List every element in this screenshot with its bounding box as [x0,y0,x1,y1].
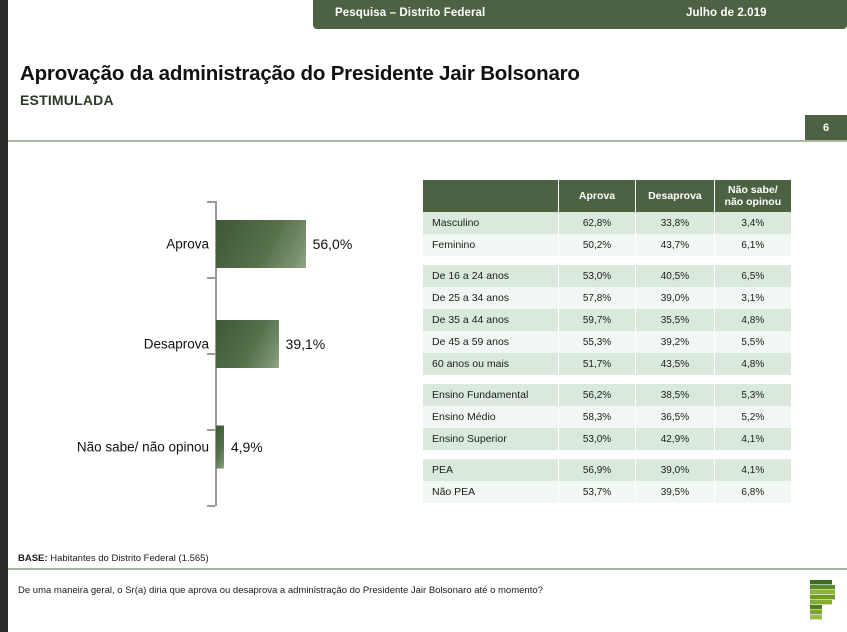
table-header-nao-sabe: Não sabe/ não opinou [714,180,791,212]
table-cell-aprova: 50,2% [558,234,635,256]
table-row: Masculino62,8%33,8%3,4% [423,212,791,234]
table-cell-nao-sabe: 3,1% [714,287,791,309]
p-logo [806,578,840,624]
table-cell-label: De 45 a 59 anos [423,331,558,353]
chart-bar-label: Desaprova [144,337,209,352]
axis-tick [207,201,215,203]
table-header: Aprova Desaprova Não sabe/ não opinou [423,180,791,212]
table-cell-label: Ensino Superior [423,428,558,450]
table-row: Ensino Médio58,3%36,5%5,2% [423,406,791,428]
table-cell-label: De 35 a 44 anos [423,309,558,331]
base-note: BASE: Habitantes do Distrito Federal (1.… [18,553,209,564]
chart-bar-row: Não sabe/ não opinou 4,9% [95,425,405,468]
table-cell-nao-sabe: 5,3% [714,384,791,406]
chart-bar-value: 56,0% [313,236,353,252]
table-cell-aprova: 55,3% [558,331,635,353]
table-cell-desaprova: 40,5% [636,265,714,287]
table-header-aprova: Aprova [558,180,635,212]
table-cell-nao-sabe: 4,8% [714,309,791,331]
table-cell-desaprova: 36,5% [636,406,714,428]
table-header-corner [423,180,558,212]
table-cell-nao-sabe: 4,1% [714,459,791,481]
table-cell-desaprova: 38,5% [636,384,714,406]
table-row: Feminino50,2%43,7%6,1% [423,234,791,256]
table-group-spacer [423,450,791,459]
table-row: 60 anos ou mais51,7%43,5%4,8% [423,353,791,375]
table-group-spacer-cell [423,256,791,265]
table-cell-aprova: 53,0% [558,265,635,287]
table-row: Ensino Superior53,0%42,9%4,1% [423,428,791,450]
left-edge-rail [0,0,8,632]
table-group-spacer-cell [423,450,791,459]
base-label: BASE: [18,553,48,564]
table-cell-label: Ensino Médio [423,406,558,428]
table-body: Masculino62,8%33,8%3,4%Feminino50,2%43,7… [423,212,791,503]
table-cell-nao-sabe: 6,8% [714,481,791,503]
table-cell-label: De 25 a 34 anos [423,287,558,309]
crosstab-table: Aprova Desaprova Não sabe/ não opinou Ma… [423,180,791,503]
table-cell-desaprova: 39,0% [636,287,714,309]
top-banner: Pesquisa – Distrito Federal Julho de 2.0… [313,0,847,29]
header-line-1: Não sabe/ [728,184,778,196]
table-cell-aprova: 58,3% [558,406,635,428]
table-cell-nao-sabe: 5,5% [714,331,791,353]
table-cell-label: Masculino [423,212,558,234]
table-cell-desaprova: 39,5% [636,481,714,503]
table-cell-nao-sabe: 4,1% [714,428,791,450]
table-row: De 25 a 34 anos57,8%39,0%3,1% [423,287,791,309]
table-cell-desaprova: 33,8% [636,212,714,234]
table-row: De 35 a 44 anos59,7%35,5%4,8% [423,309,791,331]
page-title: Aprovação da administração do Presidente… [20,62,580,86]
table-row: PEA56,9%39,0%4,1% [423,459,791,481]
table-cell-nao-sabe: 6,5% [714,265,791,287]
table-cell-aprova: 59,7% [558,309,635,331]
table-cell-desaprova: 43,7% [636,234,714,256]
table-group-spacer [423,256,791,265]
table-cell-desaprova: 42,9% [636,428,714,450]
banner-date-label: Julho de 2.019 [686,7,767,19]
table-cell-nao-sabe: 6,1% [714,234,791,256]
table-cell-aprova: 57,8% [558,287,635,309]
table-group-spacer [423,375,791,384]
chart-bar [216,220,306,268]
table-row: Não PEA53,7%39,5%6,8% [423,481,791,503]
table-cell-nao-sabe: 3,4% [714,212,791,234]
chart-bar [216,425,224,468]
axis-tick [207,505,215,507]
table-cell-aprova: 62,8% [558,212,635,234]
banner-survey-label: Pesquisa – Distrito Federal [335,7,485,19]
table-cell-label: Não PEA [423,481,558,503]
table-cell-nao-sabe: 4,8% [714,353,791,375]
chart-bar-label: Não sabe/ não opinou [77,439,209,454]
chart-bar-label: Aprova [166,237,209,252]
chart-bar [216,320,279,368]
axis-tick [207,277,215,279]
table-cell-label: 60 anos ou mais [423,353,558,375]
chart-bar-row: Aprova 56,0% [95,220,405,268]
page-number-badge: 6 [805,115,847,140]
title-divider [8,140,847,142]
table-cell-aprova: 53,7% [558,481,635,503]
table-cell-aprova: 51,7% [558,353,635,375]
table-cell-aprova: 53,0% [558,428,635,450]
table-row: De 16 a 24 anos53,0%40,5%6,5% [423,265,791,287]
table-group-spacer-cell [423,375,791,384]
header-line-2: não opinou [725,196,782,208]
table-header-row: Aprova Desaprova Não sabe/ não opinou [423,180,791,212]
table-cell-label: Feminino [423,234,558,256]
table-row: Ensino Fundamental56,2%38,5%5,3% [423,384,791,406]
table-cell-nao-sabe: 5,2% [714,406,791,428]
page-subtitle: ESTIMULADA [20,92,114,108]
p-logo-bars [810,580,835,619]
table-cell-aprova: 56,2% [558,384,635,406]
chart-bar-value: 39,1% [286,336,326,352]
footer-divider [8,568,847,570]
approval-bar-chart: Aprova 56,0% Desaprova 39,1% Não sabe/ n… [95,195,405,515]
chart-bar-value: 4,9% [231,439,263,455]
chart-bar-row: Desaprova 39,1% [95,320,405,368]
table-cell-desaprova: 35,5% [636,309,714,331]
table-row: De 45 a 59 anos55,3%39,2%5,5% [423,331,791,353]
table-cell-label: De 16 a 24 anos [423,265,558,287]
table-cell-label: Ensino Fundamental [423,384,558,406]
base-text: Habitantes do Distrito Federal (1.565) [48,553,209,564]
slide-canvas: Pesquisa – Distrito Federal Julho de 2.0… [0,0,847,632]
table-cell-desaprova: 39,2% [636,331,714,353]
table-cell-desaprova: 39,0% [636,459,714,481]
table-cell-desaprova: 43,5% [636,353,714,375]
table-cell-aprova: 56,9% [558,459,635,481]
table-header-desaprova: Desaprova [636,180,714,212]
table-cell-label: PEA [423,459,558,481]
question-text: De uma maneira geral, o Sr(a) diria que … [18,585,543,596]
